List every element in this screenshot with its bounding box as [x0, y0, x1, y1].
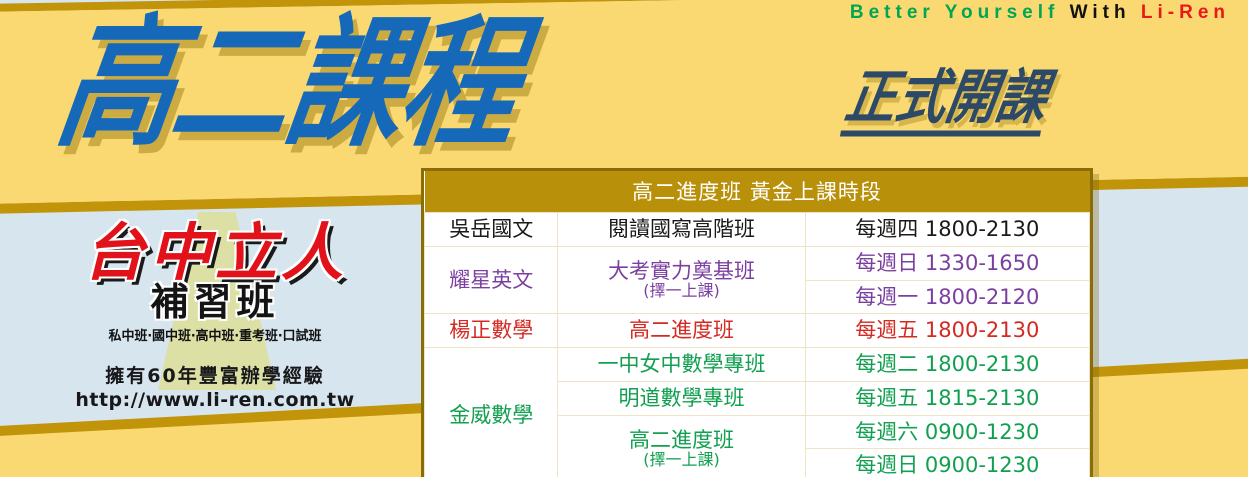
tagline-part-with: With [1070, 2, 1141, 23]
logo-class-types: 私中班‧國中班‧高中班‧重考班‧口試班 [40, 325, 390, 344]
logo-experience-text: 擁有60年豐富辦學經驗 [40, 361, 390, 388]
page-subtitle: 正式開課 [840, 68, 1052, 136]
cell-teacher: 耀星英文 [425, 246, 558, 314]
cell-course: 高二進度班 [558, 314, 805, 348]
tagline-part-liren: Li-Ren [1141, 2, 1230, 23]
cell-time: 每週四 1800-2130 [805, 213, 1089, 247]
cell-time: 每週日 0900-1230 [805, 449, 1089, 477]
schedule-table: 高二進度班 黃金上課時段 吳岳國文閱讀國寫高階班每週四 1800-2130耀星英… [424, 171, 1090, 477]
tagline-part-better: Better Yourself [850, 2, 1070, 23]
logo-website-url[interactable]: http://www.li-ren.com.tw [40, 389, 390, 411]
cell-time: 每週一 1800-2120 [805, 280, 1089, 314]
tagline: Better Yourself With Li-Ren [850, 2, 1230, 24]
schedule-table-container: 高二進度班 黃金上課時段 吳岳國文閱讀國寫高階班每週四 1800-2130耀星英… [421, 168, 1093, 477]
table-row: 楊正數學高二進度班每週五 1800-2130 [425, 314, 1090, 348]
cell-teacher: 金威數學 [425, 348, 558, 477]
cell-time: 每週五 1815-2130 [805, 381, 1089, 415]
table-row: 金威數學一中女中數學專班每週二 1800-2130 [425, 348, 1090, 382]
cell-course: 高二進度班(擇一上課) [558, 415, 805, 477]
table-row: 吳岳國文閱讀國寫高階班每週四 1800-2130 [425, 213, 1090, 247]
logo-brand-name: 台中立人 [40, 220, 390, 285]
table-header-title: 高二進度班 黃金上課時段 [425, 171, 1090, 213]
cell-course: 大考實力奠基班(擇一上課) [558, 246, 805, 314]
cell-course: 明道數學專班 [558, 381, 805, 415]
table-row: 耀星英文大考實力奠基班(擇一上課)每週日 1330-1650 [425, 246, 1090, 280]
cell-course: 閱讀國寫高階班 [558, 213, 805, 247]
logo: 台中立人 補習班 私中班‧國中班‧高中班‧重考班‧口試班 擁有60年豐富辦學經驗… [40, 208, 390, 423]
promo-banner: Better Yourself With Li-Ren 高二課程 正式開課 台中… [0, 0, 1248, 477]
cell-time: 每週五 1800-2130 [805, 314, 1089, 348]
cell-time: 每週二 1800-2130 [805, 348, 1089, 382]
logo-brand-subname: 補習班 [40, 283, 390, 323]
cell-teacher: 吳岳國文 [425, 213, 558, 247]
cell-teacher: 楊正數學 [425, 314, 558, 348]
page-title: 高二課程 [50, 14, 528, 156]
cell-time: 每週六 0900-1230 [805, 415, 1089, 449]
cell-course-note: (擇一上課) [564, 282, 798, 301]
table-header-row: 高二進度班 黃金上課時段 [425, 171, 1090, 213]
cell-course-note: (擇一上課) [564, 451, 798, 470]
cell-course: 一中女中數學專班 [558, 348, 805, 382]
cell-time: 每週日 1330-1650 [805, 246, 1089, 280]
schedule-table-body: 吳岳國文閱讀國寫高階班每週四 1800-2130耀星英文大考實力奠基班(擇一上課… [425, 213, 1090, 477]
